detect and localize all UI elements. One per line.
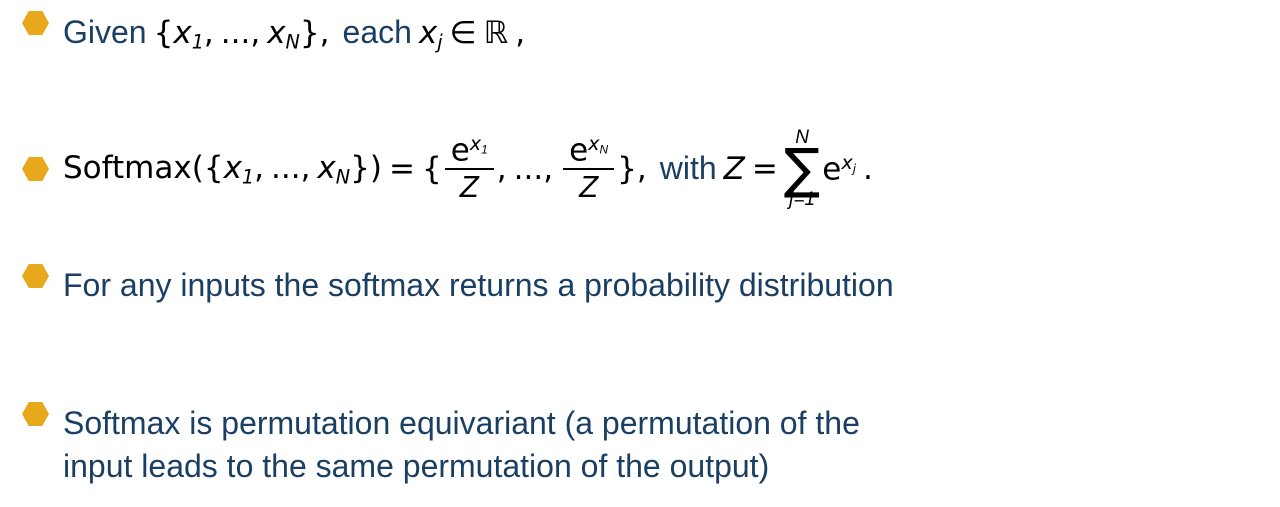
exponent: xN bbox=[588, 134, 608, 155]
reals-symbol: ℝ bbox=[484, 15, 509, 51]
fraction-numerator: ex1 bbox=[445, 134, 494, 168]
hexagon-bullet-icon bbox=[22, 264, 49, 288]
given-each-word: each bbox=[343, 14, 412, 50]
given-lead-word: Given bbox=[63, 14, 147, 50]
bullet-probability-text: For any inputs the softmax returns a pro… bbox=[49, 264, 894, 307]
bullet-given-content: Given{x1,...,xN},eachxj∈ℝ, bbox=[49, 11, 525, 63]
equals-sign-2: = bbox=[752, 151, 778, 187]
exponent: x1 bbox=[470, 134, 488, 155]
fraction-numerator: exN bbox=[563, 134, 614, 168]
result-ellipsis: ... bbox=[514, 151, 544, 187]
softmax-lhs: Softmax({x1,...,xN}) bbox=[63, 150, 382, 188]
normalizer-symbol: Z bbox=[724, 151, 745, 187]
sentence-period: . bbox=[863, 151, 873, 187]
bullet-item-permutation-equivariant: Softmax is permutation equivariant (a pe… bbox=[22, 402, 913, 488]
given-membership-expression: xj∈ℝ, bbox=[419, 15, 525, 51]
sigma-icon: ∑ bbox=[784, 148, 820, 190]
subscript-one: 1 bbox=[242, 165, 254, 188]
subscript-n: N bbox=[336, 165, 350, 188]
fraction-last-term: exN Z bbox=[563, 134, 614, 204]
bullet-item-probability-distribution: For any inputs the softmax returns a pro… bbox=[22, 264, 894, 307]
bullet-item-softmax-formula: Softmax({x1,...,xN}) = { ex1 Z , ... , e… bbox=[22, 128, 873, 210]
sum-lower-limit: j=1 bbox=[789, 190, 815, 210]
subscript-one: 1 bbox=[192, 30, 204, 53]
fraction-denominator: Z bbox=[573, 170, 604, 204]
fraction-first-term: ex1 Z bbox=[445, 134, 494, 204]
subscript-n: N bbox=[286, 30, 300, 53]
hexagon-bullet-icon bbox=[22, 157, 49, 181]
equals-sign: = bbox=[389, 151, 415, 187]
result-comma-2: , bbox=[543, 151, 553, 187]
result-set-open: { bbox=[422, 151, 442, 187]
result-set-close: } bbox=[617, 151, 637, 187]
result-trailing-comma: , bbox=[637, 151, 647, 187]
slide-canvas: Given{x1,...,xN},eachxj∈ℝ, Softmax({x1,.… bbox=[0, 0, 1280, 507]
with-word: with bbox=[660, 150, 717, 187]
softmax-equation: Softmax({x1,...,xN}) = { ex1 Z , ... , e… bbox=[49, 128, 873, 210]
exponent: xj bbox=[841, 151, 856, 174]
bullet-item-given: Given{x1,...,xN},eachxj∈ℝ, bbox=[22, 11, 525, 63]
element-of-icon: ∈ bbox=[450, 15, 477, 51]
subscript-j: j bbox=[437, 30, 442, 53]
hexagon-bullet-icon bbox=[22, 402, 49, 426]
result-comma: , bbox=[497, 151, 507, 187]
summand-term: exj bbox=[822, 151, 856, 188]
summation-operator: N ∑ j=1 bbox=[784, 128, 820, 210]
given-set-expression: {x1,...,xN}, bbox=[154, 15, 330, 51]
bullet-permutation-text: Softmax is permutation equivariant (a pe… bbox=[49, 402, 913, 488]
hexagon-bullet-icon bbox=[22, 11, 49, 35]
fraction-denominator: Z bbox=[454, 170, 485, 204]
